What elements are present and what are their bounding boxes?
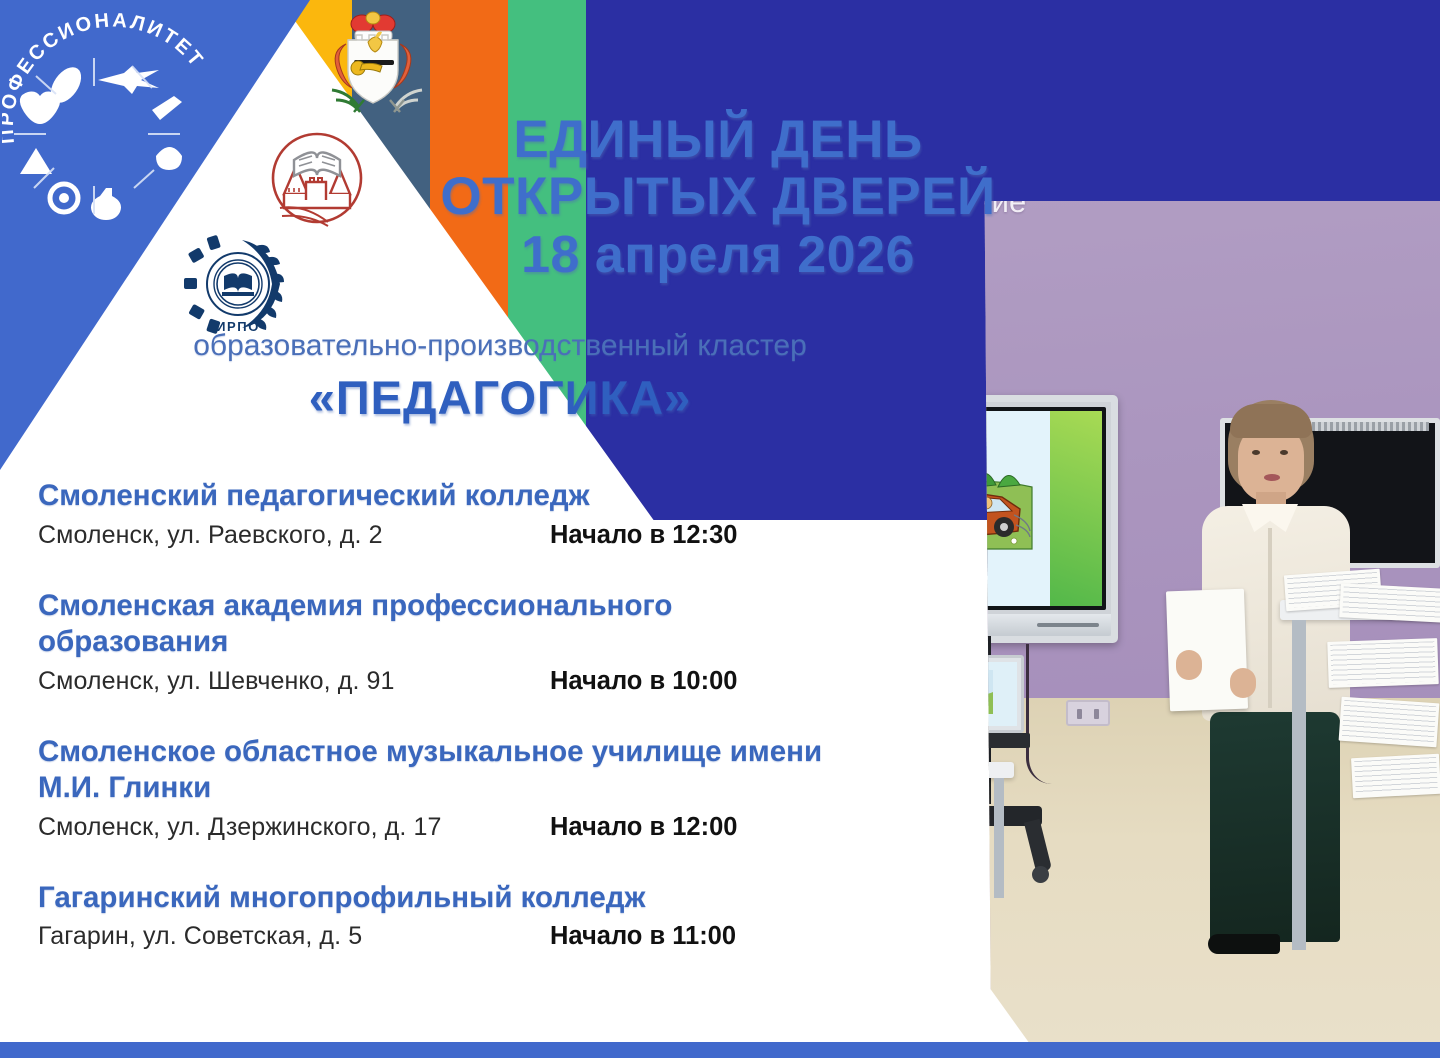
institution-start-time: Начало в 12:00	[550, 813, 737, 842]
irpo-logo: ИРПО	[182, 232, 294, 336]
professionalitet-logo: ПРОФЕССИОНАЛИТЕТ	[2, 8, 234, 236]
student-in-blue-pattern	[846, 655, 958, 753]
poster-canvas: реподавание младших классах	[0, 0, 1440, 1058]
tv-stand-pole-left	[942, 636, 957, 804]
laptop-keyboard	[900, 733, 1030, 748]
institution-name: Смоленское областное музыкальное училище…	[38, 734, 838, 807]
headline-line-1: ЕДИНЫЙ ДЕНЬ	[418, 112, 1018, 169]
laptop-display	[906, 655, 1024, 733]
institution-address: Смоленск, ул. Дзержинского, д. 17	[38, 813, 550, 842]
laptop-thumbnail-icon	[923, 670, 993, 714]
list-item: Смоленский педагогический колледж Смолен…	[38, 478, 838, 550]
list-item: Смоленская академия профессионального об…	[38, 588, 838, 696]
professionalitet-wordmark: ПРОФЕССИОНАЛИТЕТ	[2, 9, 208, 144]
institution-address: Смоленск, ул. Раевского, д. 2	[38, 521, 550, 550]
student-desk-top	[928, 762, 1014, 778]
pedagogical-college-emblem	[258, 122, 376, 228]
student-desk-lower	[880, 838, 972, 854]
headline-line-2: ОТКРЫТЫХ ДВЕРЕЙ	[418, 169, 1018, 226]
desk-stack-paper-4	[1339, 697, 1440, 748]
institution-address: Смоленск, ул. Шевченко, д. 91	[38, 667, 550, 696]
whiteboard-control-bar	[815, 614, 1111, 636]
desk-stack-paper-3	[1327, 638, 1439, 688]
institution-start-time: Начало в 12:30	[550, 521, 737, 550]
headline-date: 18 апреля 2026	[418, 228, 1018, 284]
svg-text:ПРОФЕССИОНАЛИТЕТ: ПРОФЕССИОНАЛИТЕТ	[2, 9, 208, 144]
desk-paper	[889, 817, 936, 843]
smolensk-coat-of-arms	[324, 6, 430, 116]
student-head	[876, 704, 928, 756]
institution-name: Смоленская академия профессионального об…	[38, 588, 838, 661]
tv-stand-base	[892, 806, 1042, 826]
institution-address: Гагарин, ул. Советская, д. 5	[38, 922, 550, 951]
desk-stack-paper-5	[1351, 754, 1440, 799]
institution-start-time: Начало в 10:00	[550, 667, 737, 696]
list-item: Смоленское областное музыкальное училище…	[38, 734, 838, 842]
desk-stack-paper-2	[1339, 583, 1440, 622]
list-item: Гагаринский многопрофильный колледж Гага…	[38, 880, 838, 952]
institution-list: Смоленский педагогический колледж Смолен…	[38, 478, 838, 989]
wall-socket-right	[1066, 700, 1110, 726]
cluster-block: образовательно-производственный кластер …	[120, 328, 880, 425]
cluster-kicker: образовательно-производственный кластер	[120, 328, 880, 364]
wall-socket-left	[852, 700, 886, 726]
cluster-name: «ПЕДАГОГИКА»	[120, 370, 880, 425]
institution-name: Гагаринский многопрофильный колледж	[38, 880, 838, 917]
bottom-accent-strip	[0, 1042, 1440, 1058]
whiteboard-stylus-icon	[1037, 623, 1099, 627]
institution-start-time: Начало в 11:00	[550, 922, 736, 951]
headline-block: ЕДИНЫЙ ДЕНЬ ОТКРЫТЫХ ДВЕРЕЙ 18 апреля 20…	[418, 112, 1018, 284]
institution-name: Смоленский педагогический колледж	[38, 478, 838, 515]
